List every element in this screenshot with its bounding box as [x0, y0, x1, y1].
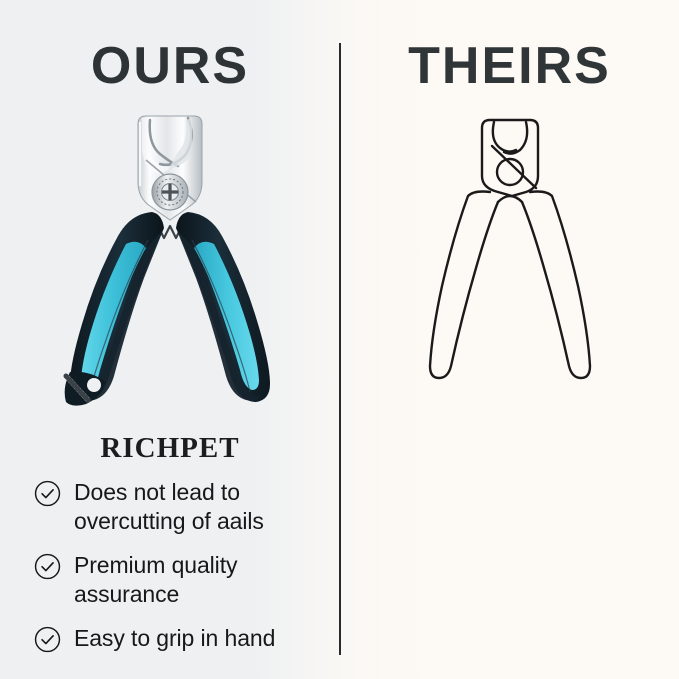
- list-item: Premium quality assurance: [34, 551, 329, 608]
- feature-text: Does not lead to overcutting of aails: [74, 478, 329, 535]
- comparison-graphic: OURS: [0, 0, 679, 679]
- richpet-clipper-photo: [0, 108, 340, 408]
- ours-feature-list: Does not lead to overcutting of aails Pr…: [34, 478, 329, 669]
- theirs-column: THEIRS: [340, 0, 679, 679]
- feature-text: Premium quality assurance: [74, 551, 329, 608]
- column-divider: [339, 43, 341, 655]
- generic-clipper-drawing: [340, 110, 679, 390]
- check-circle-icon: [34, 626, 61, 653]
- check-circle-icon: [34, 553, 61, 580]
- brand-name: RICHPET: [0, 432, 340, 465]
- pet-nail-clipper-icon: [60, 108, 280, 408]
- ours-heading: OURS: [0, 40, 340, 92]
- list-item: Does not lead to overcutting of aails: [34, 478, 329, 535]
- list-item: Easy to grip in hand: [34, 624, 329, 653]
- generic-clipper-outline-icon: [420, 110, 600, 390]
- theirs-heading: THEIRS: [340, 40, 679, 92]
- ours-column: OURS: [0, 0, 340, 679]
- feature-text: Easy to grip in hand: [74, 624, 275, 653]
- check-circle-icon: [34, 480, 61, 507]
